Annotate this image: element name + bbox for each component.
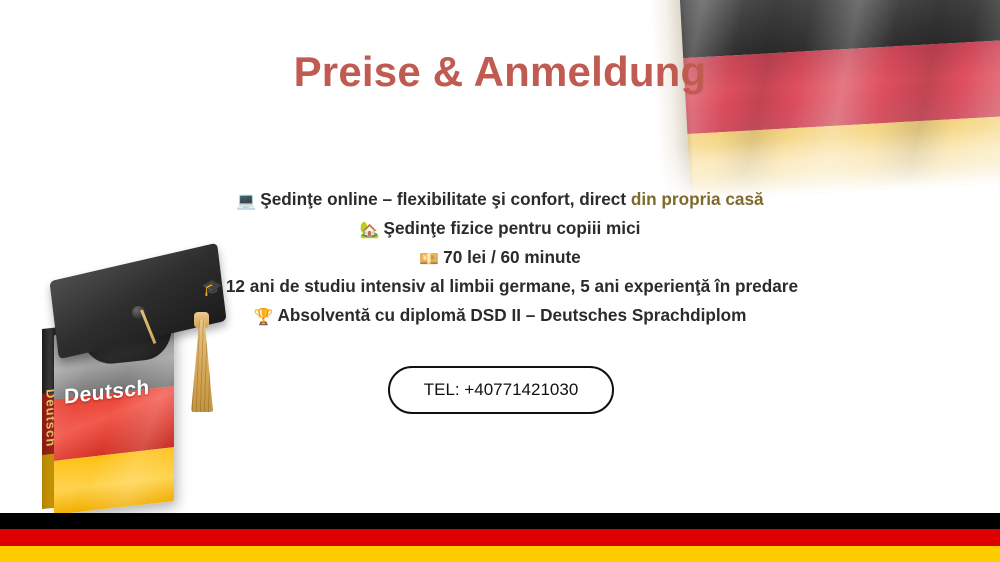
laptop-icon: 💻 [236, 193, 256, 210]
footer-band-black [0, 513, 1000, 529]
feature-list: 💻Şedinţe online – flexibilitate şi confo… [0, 186, 1000, 331]
footer-band-red [0, 529, 1000, 546]
list-item: 🎓12 ani de studiu intensiv al limbii ger… [0, 273, 1000, 302]
graduation-cap-icon: 🎓 [202, 280, 222, 297]
list-item: 💻Şedinţe online – flexibilitate şi confo… [0, 186, 1000, 215]
house-with-garden-icon: 🏡 [360, 222, 380, 239]
list-item-text: Şedinţe fizice pentru copiii mici [384, 218, 641, 238]
list-item-text: Absolventă cu diplomă DSD II – Deutsches… [277, 305, 746, 325]
banknote-icon: 💴 [419, 251, 439, 268]
list-item-text-highlight: din propria casă [631, 189, 764, 209]
list-item-text: Şedinţe online – flexibilitate şi confor… [260, 189, 631, 209]
trophy-icon: 🏆 [254, 309, 274, 326]
list-item-text: 70 lei / 60 minute [443, 247, 581, 267]
footer-flag-bands [0, 513, 1000, 562]
list-item: 💴70 lei / 60 minute [0, 244, 1000, 273]
tassel-threads [191, 320, 213, 412]
poster-canvas: Preise & Anmeldung 💻Şedinţe online – fle… [0, 0, 1000, 562]
list-item-text: 12 ani de studiu intensiv al limbii germ… [226, 276, 798, 296]
telephone-button[interactable]: TEL: +40771421030 [388, 366, 614, 414]
list-item: 🏆Absolventă cu diplomă DSD II – Deutsche… [0, 302, 1000, 331]
page-title: Preise & Anmeldung [0, 48, 1000, 96]
footer-band-gold [0, 546, 1000, 562]
german-flag-waving [648, 0, 1000, 202]
list-item: 🏡Şedinţe fizice pentru copiii mici [0, 215, 1000, 244]
